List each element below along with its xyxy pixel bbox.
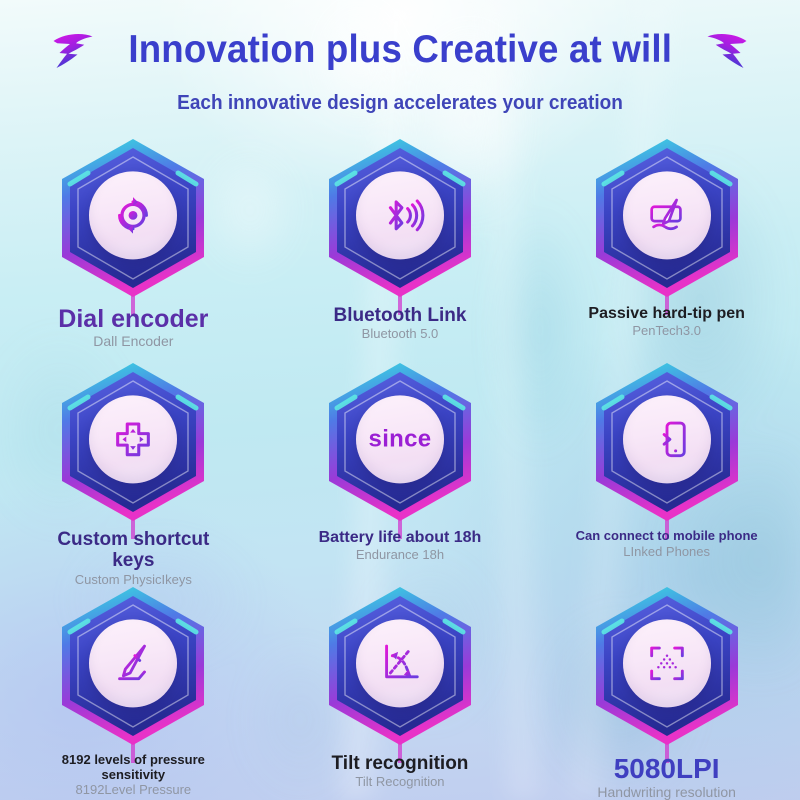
caption-subtitle: Dall Encoder (38, 334, 228, 350)
feature-grid: Dial encoder Dall Encoder (0, 137, 800, 800)
page-subtitle: Each innovative design accelerates your … (20, 92, 780, 115)
caption-subtitle: Tilt Recognition (305, 775, 495, 790)
caption-title: Bluetooth Link (305, 305, 495, 326)
caption: 8192 levels of pressure sensitivity 8192… (38, 753, 228, 798)
bluetooth-signal-icon (377, 192, 423, 238)
hex-badge (325, 137, 475, 299)
caption: Bluetooth Link Bluetooth 5.0 (305, 305, 495, 342)
feature-icon-wrapper (89, 619, 177, 707)
feature-icon-wrapper (356, 171, 444, 259)
caption-subtitle: Handwriting resolution (572, 785, 762, 800)
dial-rotation-icon (110, 192, 156, 238)
feature-icon-wrapper (356, 619, 444, 707)
caption-title: Can connect to mobile phone (572, 529, 762, 544)
pen-pressure-icon (110, 640, 156, 686)
caption-title: Dial encoder (38, 305, 228, 333)
caption-subtitle: LInked Phones (572, 545, 762, 560)
feature-card-phone-link[interactable]: Can connect to mobile phone LInked Phone… (533, 361, 800, 579)
scan-resolution-icon (644, 640, 690, 686)
caption-subtitle: PenTech3.0 (572, 324, 762, 339)
feature-card-passive-pen[interactable]: Passive hard-tip pen PenTech3.0 (533, 137, 800, 355)
feature-card-bluetooth-link[interactable]: Bluetooth Link Bluetooth 5.0 (267, 137, 534, 355)
hex-badge (592, 585, 742, 747)
feature-card-resolution[interactable]: 5080LPI Handwriting resolution (533, 585, 800, 800)
hex-badge (58, 585, 208, 747)
caption: Battery life about 18h Endurance 18h (305, 529, 495, 562)
poster-header: Innovation plus Creative at will Each in… (0, 0, 800, 115)
battery-pen-icon (644, 192, 690, 238)
promo-poster: Innovation plus Creative at will Each in… (0, 0, 800, 800)
caption-title: 8192 levels of pressure sensitivity (38, 753, 228, 782)
caption-title: 5080LPI (572, 753, 762, 784)
tilt-axes-icon (377, 640, 423, 686)
feature-icon-wrapper (623, 171, 711, 259)
lightning-bolt-icon (703, 26, 751, 74)
dpad-icon (110, 416, 156, 462)
caption-title: Custom shortcut keys (38, 529, 228, 572)
page-title: Innovation plus Creative at will (128, 28, 672, 72)
caption: Passive hard-tip pen PenTech3.0 (572, 305, 762, 338)
phone-link-icon (644, 416, 690, 462)
feature-icon-wrapper (89, 395, 177, 483)
hex-badge (325, 585, 475, 747)
feature-icon-wrapper (623, 395, 711, 483)
caption: Tilt recognition Tilt Recognition (305, 753, 495, 790)
caption: 5080LPI Handwriting resolution (572, 753, 762, 800)
feature-card-tilt-recognition[interactable]: Tilt recognition Tilt Recognition (267, 585, 534, 800)
caption-title: Tilt recognition (305, 753, 495, 774)
caption: Custom shortcut keys Custom PhysicIkeys (38, 529, 228, 587)
hex-badge (58, 361, 208, 523)
caption-subtitle: 8192Level Pressure (38, 783, 228, 798)
caption-subtitle: Endurance 18h (305, 548, 495, 563)
caption-title: Battery life about 18h (305, 529, 495, 547)
hex-badge (592, 137, 742, 299)
caption: Dial encoder Dall Encoder (38, 305, 228, 350)
feature-card-battery-life[interactable]: since Battery life about 18h Endurance 1… (267, 361, 534, 579)
caption: Can connect to mobile phone LInked Phone… (572, 529, 762, 559)
feature-icon-wrapper (623, 619, 711, 707)
since-text-icon: since (369, 425, 432, 453)
caption-subtitle: Bluetooth 5.0 (305, 327, 495, 342)
caption-subtitle: Custom PhysicIkeys (38, 573, 228, 588)
hex-badge (58, 137, 208, 299)
feature-icon-wrapper: since (356, 395, 444, 483)
feature-card-dial-encoder[interactable]: Dial encoder Dall Encoder (0, 137, 267, 355)
hex-badge: since (325, 361, 475, 523)
lightning-bolt-icon (49, 26, 97, 74)
caption-title: Passive hard-tip pen (572, 305, 762, 323)
hex-badge (592, 361, 742, 523)
feature-card-shortcut-keys[interactable]: Custom shortcut keys Custom PhysicIkeys (0, 361, 267, 579)
feature-card-pressure-levels[interactable]: 8192 levels of pressure sensitivity 8192… (0, 585, 267, 800)
feature-icon-wrapper (89, 171, 177, 259)
title-row: Innovation plus Creative at will (0, 26, 800, 74)
